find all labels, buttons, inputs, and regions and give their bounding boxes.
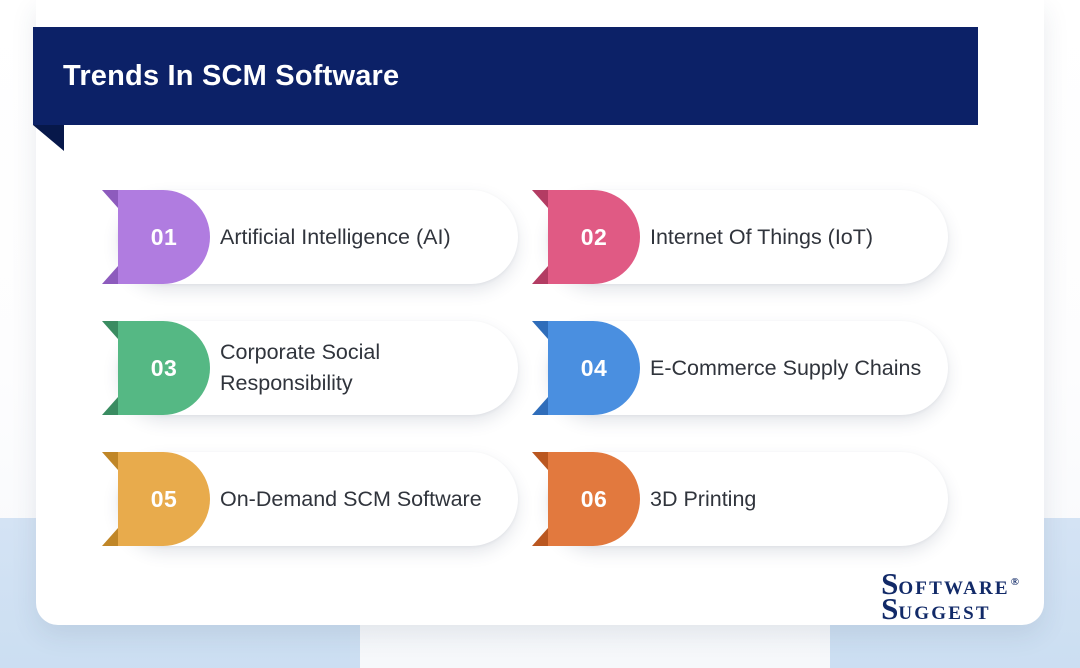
badge-wing-top xyxy=(532,321,548,339)
trend-number-badge: 06 xyxy=(548,452,640,546)
trend-card-03[interactable]: 03 Corporate Social Responsibility xyxy=(118,321,518,415)
trends-row-2: 03 Corporate Social Responsibility 04 E-… xyxy=(0,321,1080,452)
trend-number-badge: 03 xyxy=(118,321,210,415)
badge-wing-top xyxy=(102,321,118,339)
trend-card-04[interactable]: 04 E-Commerce Supply Chains xyxy=(548,321,948,415)
badge-wing-bottom xyxy=(532,266,548,284)
trend-number-badge: 01 xyxy=(118,190,210,284)
badge-wing-bottom xyxy=(532,397,548,415)
badge-wing-bottom xyxy=(102,266,118,284)
softwaresuggest-logo: S OFTWARE ® S UGGEST xyxy=(881,568,1018,624)
trend-label: On-Demand SCM Software xyxy=(220,452,492,546)
trend-card-06[interactable]: 06 3D Printing xyxy=(548,452,948,546)
badge-wing-top xyxy=(532,190,548,208)
trend-label: Corporate Social Responsibility xyxy=(220,321,492,415)
logo-line-software: S OFTWARE ® xyxy=(881,568,1018,599)
page-title: Trends In SCM Software xyxy=(63,27,399,125)
header-banner: Trends In SCM Software xyxy=(33,27,978,125)
trend-number-badge: 04 xyxy=(548,321,640,415)
badge-wing-top xyxy=(532,452,548,470)
logo-text-suggest: UGGEST xyxy=(898,604,990,623)
trend-label: Artificial Intelligence (AI) xyxy=(220,190,492,284)
trend-number-badge: 02 xyxy=(548,190,640,284)
badge-wing-top xyxy=(102,452,118,470)
trend-card-05[interactable]: 05 On-Demand SCM Software xyxy=(118,452,518,546)
logo-capital-s-bottom: S xyxy=(881,593,898,624)
trend-label: 3D Printing xyxy=(650,452,922,546)
trend-card-02[interactable]: 02 Internet Of Things (IoT) xyxy=(548,190,948,284)
badge-wing-top xyxy=(102,190,118,208)
trends-row-3: 05 On-Demand SCM Software 06 3D Printing xyxy=(0,452,1080,583)
infographic-canvas: Trends In SCM Software 01 Artificial Int… xyxy=(0,0,1080,668)
trend-card-01[interactable]: 01 Artificial Intelligence (AI) xyxy=(118,190,518,284)
badge-wing-bottom xyxy=(102,397,118,415)
badge-wing-bottom xyxy=(532,528,548,546)
panel-top-fill xyxy=(36,0,1044,30)
registered-trademark-icon: ® xyxy=(1011,577,1019,588)
badge-wing-bottom xyxy=(102,528,118,546)
logo-text-software: OFTWARE xyxy=(898,579,1009,598)
trends-grid: 01 Artificial Intelligence (AI) 02 Inter… xyxy=(0,190,1080,583)
trend-label: Internet Of Things (IoT) xyxy=(650,190,922,284)
trend-number-badge: 05 xyxy=(118,452,210,546)
trend-label: E-Commerce Supply Chains xyxy=(650,321,922,415)
trends-row-1: 01 Artificial Intelligence (AI) 02 Inter… xyxy=(0,190,1080,321)
